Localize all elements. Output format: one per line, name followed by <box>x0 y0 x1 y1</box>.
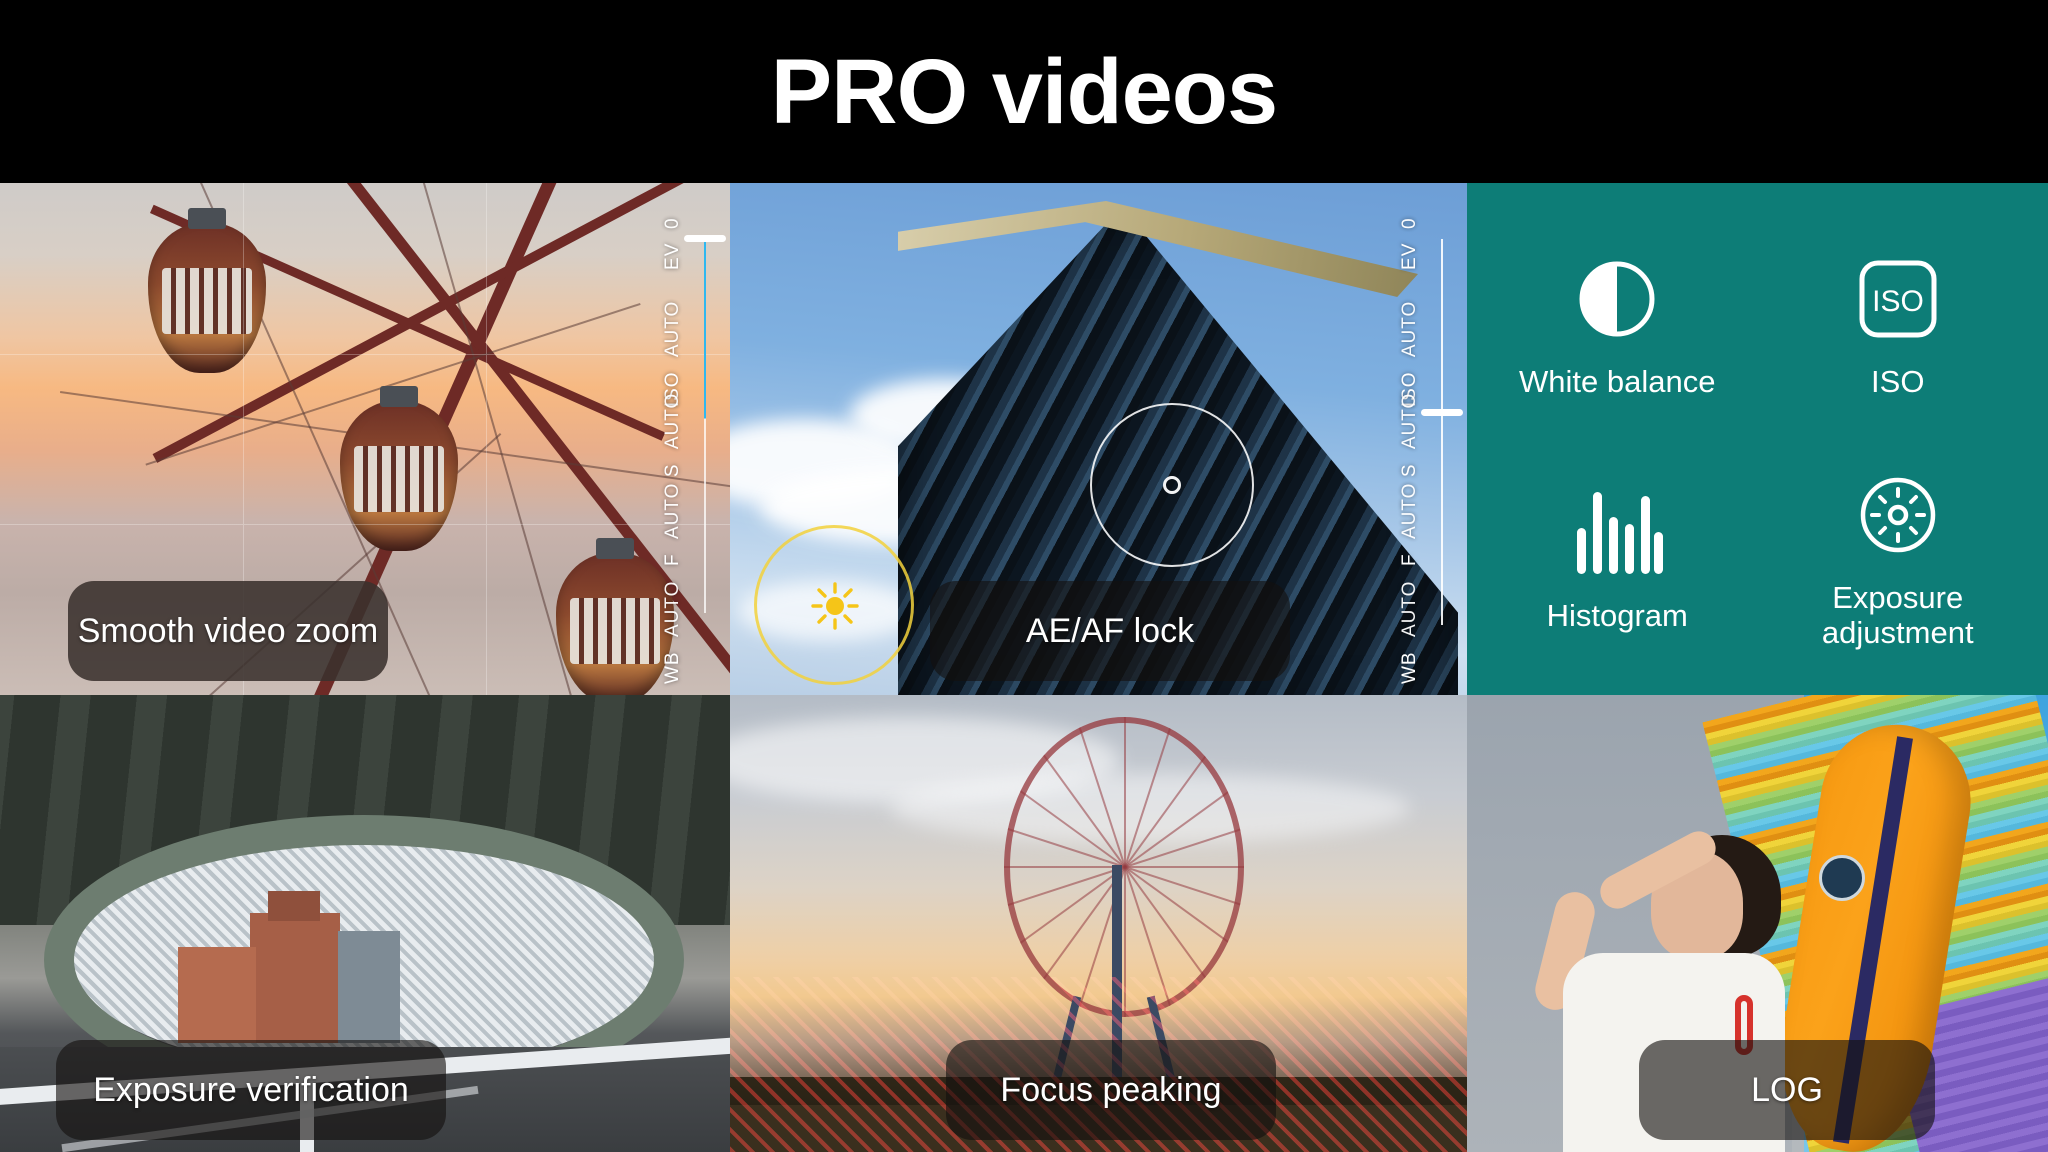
hud-wb: WBAUTO <box>1399 581 1421 684</box>
header-bar: PRO videos <box>0 0 2048 183</box>
hud-shutter: SAUTO <box>662 393 684 477</box>
feature-label: Histogram <box>1547 599 1688 634</box>
slide-root: PRO videos <box>0 0 2048 1152</box>
tile-caption: LOG <box>1751 1071 1823 1110</box>
exposure-adjustment-icon <box>1857 469 1939 561</box>
feature-label: White balance <box>1519 365 1715 400</box>
tile-focus-peaking[interactable]: Focus peaking <box>730 695 1467 1152</box>
hud-shutter: SAUTO <box>1399 393 1421 477</box>
histogram-icon <box>1571 487 1663 579</box>
tile-pro-features-panel: White balance ISO ISO <box>1467 183 2048 695</box>
tile-caption: AE/AF lock <box>1026 612 1194 651</box>
hud-aperture: FAUTO <box>662 483 684 566</box>
feature-label: ISO <box>1871 365 1924 400</box>
feature-label: Exposure adjustment <box>1822 581 1974 650</box>
feature-exposure-adjustment[interactable]: Exposure adjustment <box>1758 469 2039 650</box>
tile-caption: Focus peaking <box>1000 1071 1221 1110</box>
zoom-slider-knob[interactable] <box>684 235 726 242</box>
tile-caption-chip: Focus peaking <box>946 1040 1276 1140</box>
feature-grid: EV0 ISOAUTO SAUTO FAUTO WBAUTO Smooth vi… <box>0 183 2048 1152</box>
tile-log[interactable]: LOG <box>1467 695 2048 1152</box>
tile-ae-af-lock[interactable]: EV0 ISOAUTO SAUTO FAUTO WBAUTO AE/AF loc… <box>730 183 1467 695</box>
tile-caption-chip: AE/AF lock <box>930 581 1290 681</box>
white-balance-icon <box>1576 253 1658 345</box>
tile-caption: Exposure verification <box>93 1071 409 1110</box>
camera-hud: EV0 ISOAUTO SAUTO FAUTO WBAUTO <box>610 183 730 695</box>
iso-icon: ISO <box>1857 253 1939 345</box>
sun-icon <box>808 579 862 633</box>
feature-white-balance[interactable]: White balance <box>1477 253 1758 400</box>
hud-ev: EV0 <box>662 217 684 270</box>
hud-iso: ISOAUTO <box>662 301 684 407</box>
hud-aperture: FAUTO <box>1399 483 1421 566</box>
page-title: PRO videos <box>771 46 1277 138</box>
camera-hud: EV0 ISOAUTO SAUTO FAUTO WBAUTO <box>1347 183 1467 695</box>
tile-exposure-verification[interactable]: Exposure verification <box>0 695 730 1152</box>
hud-wb: WBAUTO <box>662 581 684 684</box>
hud-iso: ISOAUTO <box>1399 301 1421 407</box>
hud-ev: EV0 <box>1399 217 1421 270</box>
tile-caption-chip: Exposure verification <box>56 1040 446 1140</box>
tile-smooth-video-zoom[interactable]: EV0 ISOAUTO SAUTO FAUTO WBAUTO Smooth vi… <box>0 183 730 695</box>
feature-iso[interactable]: ISO ISO <box>1758 253 2039 400</box>
feature-histogram[interactable]: Histogram <box>1477 487 1758 634</box>
zoom-slider-track[interactable] <box>704 239 706 613</box>
zoom-slider-knob[interactable] <box>1421 409 1463 416</box>
tile-caption-chip: LOG <box>1639 1040 1935 1140</box>
svg-text:ISO: ISO <box>1872 285 1924 318</box>
tile-caption-chip: Smooth video zoom <box>68 581 388 681</box>
gondola <box>148 223 266 373</box>
tile-caption: Smooth video zoom <box>78 612 379 651</box>
focus-center-dot <box>1163 476 1181 494</box>
gondola <box>340 401 458 551</box>
zoom-slider-track[interactable] <box>1441 239 1443 625</box>
